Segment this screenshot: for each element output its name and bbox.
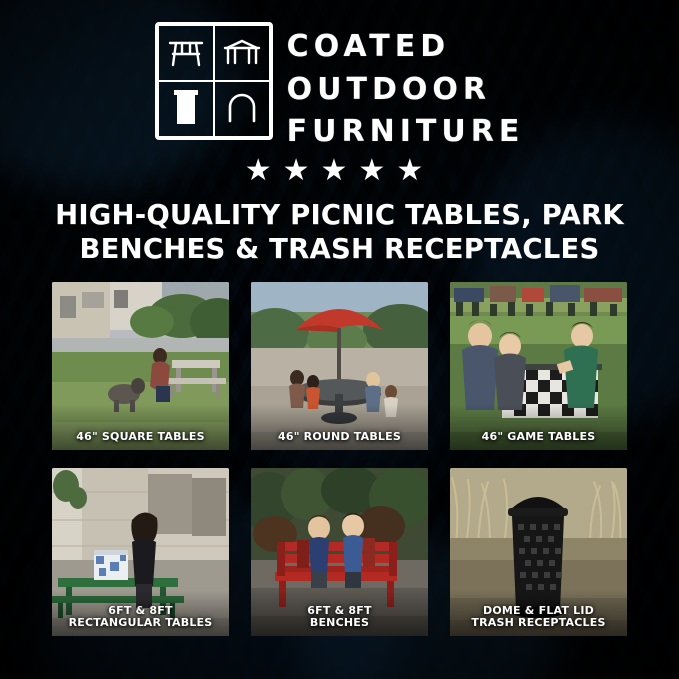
page-title: HIGH-QUALITY PICNIC TABLES, PARK BENCHES… (0, 198, 679, 266)
product-tile-round-tables[interactable]: 46" ROUND TABLES (251, 282, 428, 450)
caption-line-1: 46" SQUARE TABLES (56, 431, 225, 444)
product-tile-square-tables[interactable]: 46" SQUARE TABLES (52, 282, 229, 450)
product-tile-game-tables[interactable]: 46" GAME TABLES (450, 282, 627, 450)
product-caption: DOME & FLAT LID TRASH RECEPTACLES (450, 605, 627, 630)
headline-line-1: HIGH-QUALITY PICNIC TABLES, PARK (26, 198, 653, 232)
trash-receptacle-icon (158, 81, 214, 137)
bench-icon (214, 25, 270, 81)
product-caption: 6FT & 8FT RECTANGULAR TABLES (52, 605, 229, 630)
headline-line-2: BENCHES & TRASH RECEPTACLES (26, 232, 653, 266)
product-caption: 6FT & 8FT BENCHES (251, 605, 428, 630)
product-tile-benches[interactable]: 6FT & 8FT BENCHES (251, 468, 428, 636)
product-grid: 46" SQUARE TABLES (52, 282, 627, 636)
logo-word-1: COATED (287, 26, 525, 69)
product-caption: 46" GAME TABLES (450, 431, 627, 444)
caption-line-2: RECTANGULAR TABLES (56, 617, 225, 630)
poster-canvas: COATED OUTDOOR FURNITURE ★★★★★ HIGH-QUAL… (0, 0, 679, 679)
brand-logo: COATED OUTDOOR FURNITURE (0, 22, 679, 154)
star-rating: ★★★★★ (0, 156, 679, 186)
star-rating-glyphs: ★★★★★ (245, 156, 434, 186)
product-caption: 46" SQUARE TABLES (52, 431, 229, 444)
caption-line-2: TRASH RECEPTACLES (454, 617, 623, 630)
product-caption: 46" ROUND TABLES (251, 431, 428, 444)
caption-line-2: BENCHES (255, 617, 424, 630)
logo-word-3: FURNITURE (287, 111, 525, 154)
arch-bench-icon (214, 81, 270, 137)
logo-word-2: OUTDOOR (287, 69, 525, 112)
caption-line-1: 46" GAME TABLES (454, 431, 623, 444)
product-tile-trash-receptacles[interactable]: DOME & FLAT LID TRASH RECEPTACLES (450, 468, 627, 636)
logo-mark (155, 22, 273, 140)
logo-wordmark: COATED OUTDOOR FURNITURE (287, 22, 525, 154)
picnic-table-icon (158, 25, 214, 81)
caption-line-1: 46" ROUND TABLES (255, 431, 424, 444)
product-tile-rectangular-tables[interactable]: 6FT & 8FT RECTANGULAR TABLES (52, 468, 229, 636)
